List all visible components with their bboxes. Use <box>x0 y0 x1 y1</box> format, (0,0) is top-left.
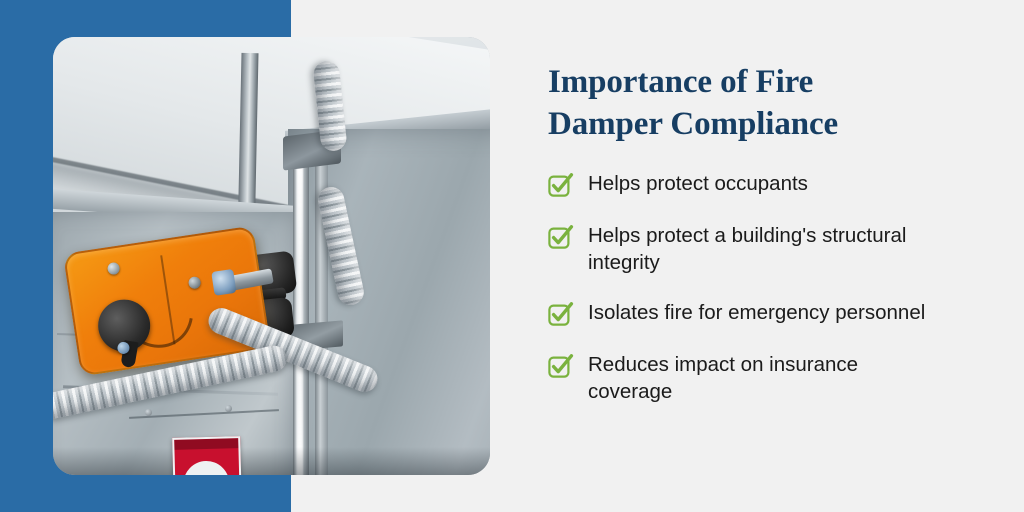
check-square-icon <box>548 302 574 328</box>
photo-fastener-b <box>225 405 232 412</box>
list-item-label: Isolates fire for emergency personnel <box>588 300 925 327</box>
list-item-label: Reduces impact on insurance coverage <box>588 352 938 405</box>
benefits-checklist: Helps protect occupants Helps protect a … <box>548 171 968 406</box>
photo-actuator-screw-top <box>107 262 121 276</box>
photo-red-placard <box>172 436 242 475</box>
list-item: Helps protect occupants <box>548 171 968 199</box>
infographic-canvas: Importance of Fire Damper Compliance Hel… <box>0 0 1024 512</box>
page-title-line-2: Damper Compliance <box>548 104 968 146</box>
photo-lower-shadow <box>53 447 490 475</box>
check-square-icon <box>548 173 574 199</box>
page-title: Importance of Fire Damper Compliance <box>548 62 968 145</box>
fire-damper-photo <box>53 37 490 475</box>
list-item-label: Helps protect a building's structural in… <box>588 223 938 276</box>
list-item: Helps protect a building's structural in… <box>548 223 968 276</box>
check-square-icon <box>548 225 574 251</box>
list-item: Reduces impact on insurance coverage <box>548 352 968 405</box>
check-square-icon <box>548 354 574 380</box>
list-item-label: Helps protect occupants <box>588 171 808 198</box>
photo-fastener-a <box>145 409 152 416</box>
photo-rail-highlight <box>297 155 303 475</box>
photo-actuator-screw-mid <box>188 276 202 290</box>
photo-illustration <box>53 37 490 475</box>
photo-placard-shadow <box>174 438 238 450</box>
page-title-line-1: Importance of Fire <box>548 62 968 104</box>
list-item: Isolates fire for emergency personnel <box>548 300 968 328</box>
content-column: Importance of Fire Damper Compliance Hel… <box>548 62 968 406</box>
photo-actuator-bolt <box>211 269 236 296</box>
